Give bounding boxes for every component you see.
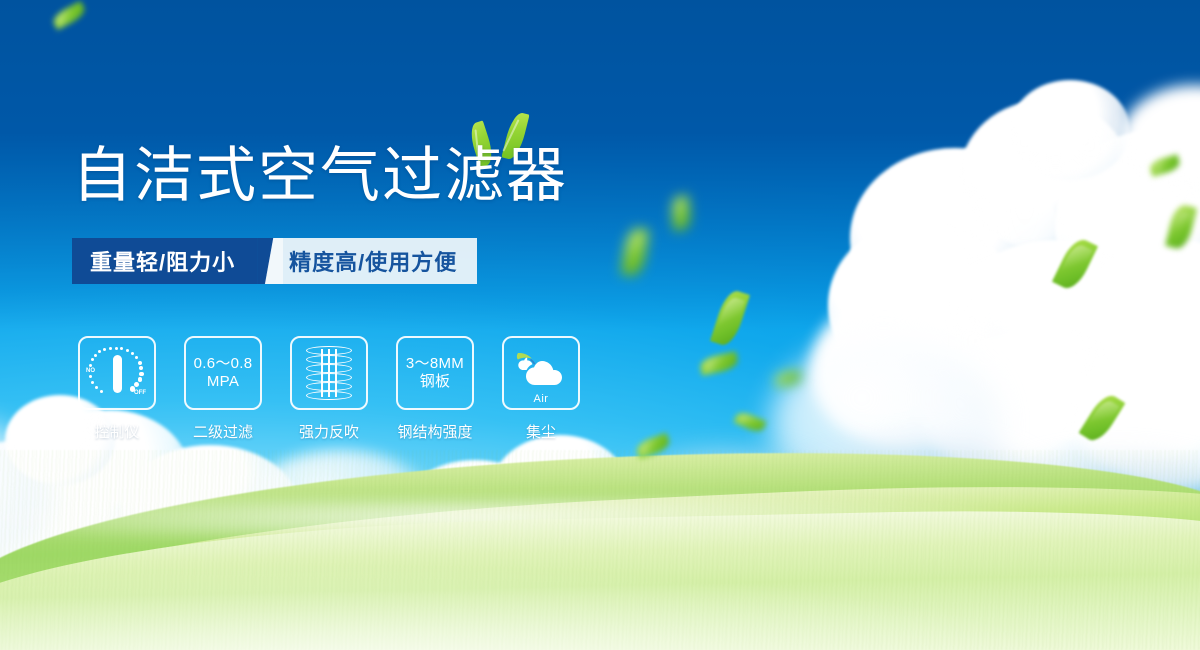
subtitle-ribbon: 重量轻/阻力小 精度高/使用方便 bbox=[72, 238, 477, 284]
air-text: Air bbox=[512, 393, 570, 405]
feature-icon-box: NO OFF bbox=[78, 336, 156, 410]
subtitle-divider bbox=[257, 238, 283, 284]
subtitle-right-text: 精度高/使用方便 bbox=[283, 238, 477, 284]
feature-label: 强力反吹 bbox=[299, 421, 359, 442]
steel-thickness-text: 3～8MM bbox=[406, 355, 464, 373]
feature-label: 控制仪 bbox=[94, 421, 139, 442]
pressure-value-text: 0.6～0.8 bbox=[194, 355, 253, 373]
steel-plate-text: 钢板 bbox=[420, 373, 451, 391]
feature-label: 集尘 bbox=[526, 421, 556, 442]
subtitle-left-text: 重量轻/阻力小 bbox=[72, 238, 257, 284]
feature-label: 二级过滤 bbox=[193, 421, 253, 442]
filter-cartridge-icon bbox=[306, 346, 352, 400]
feature-item-strong-backblow[interactable]: 强力反吹 bbox=[290, 336, 368, 442]
gauge-icon: NO OFF bbox=[86, 344, 148, 402]
page-title: 自洁式空气过滤器 bbox=[72, 146, 568, 206]
feature-item-steel-strength[interactable]: 3～8MM 钢板 钢结构强度 bbox=[396, 336, 474, 442]
pressure-unit-text: MPA bbox=[207, 373, 239, 391]
gauge-label-no: NO bbox=[86, 368, 95, 374]
feature-icon-box: 0.6～0.8 MPA bbox=[184, 336, 262, 410]
feature-item-dust-collection[interactable]: Air 集尘 bbox=[502, 336, 580, 442]
gauge-label-off: OFF bbox=[134, 390, 146, 396]
feature-item-two-stage-filter[interactable]: 0.6～0.8 MPA 二级过滤 bbox=[184, 336, 262, 442]
feature-icon-box bbox=[290, 336, 368, 410]
feature-icon-box: 3～8MM 钢板 bbox=[396, 336, 474, 410]
feature-label: 钢结构强度 bbox=[397, 421, 472, 442]
feature-list: NO OFF 控制仪 0.6～0.8 MPA 二级过滤 bbox=[78, 336, 580, 442]
feature-item-control-gauge[interactable]: NO OFF 控制仪 bbox=[78, 336, 156, 442]
feature-icon-box: Air bbox=[502, 336, 580, 410]
cloud-air-icon: Air bbox=[512, 350, 570, 396]
